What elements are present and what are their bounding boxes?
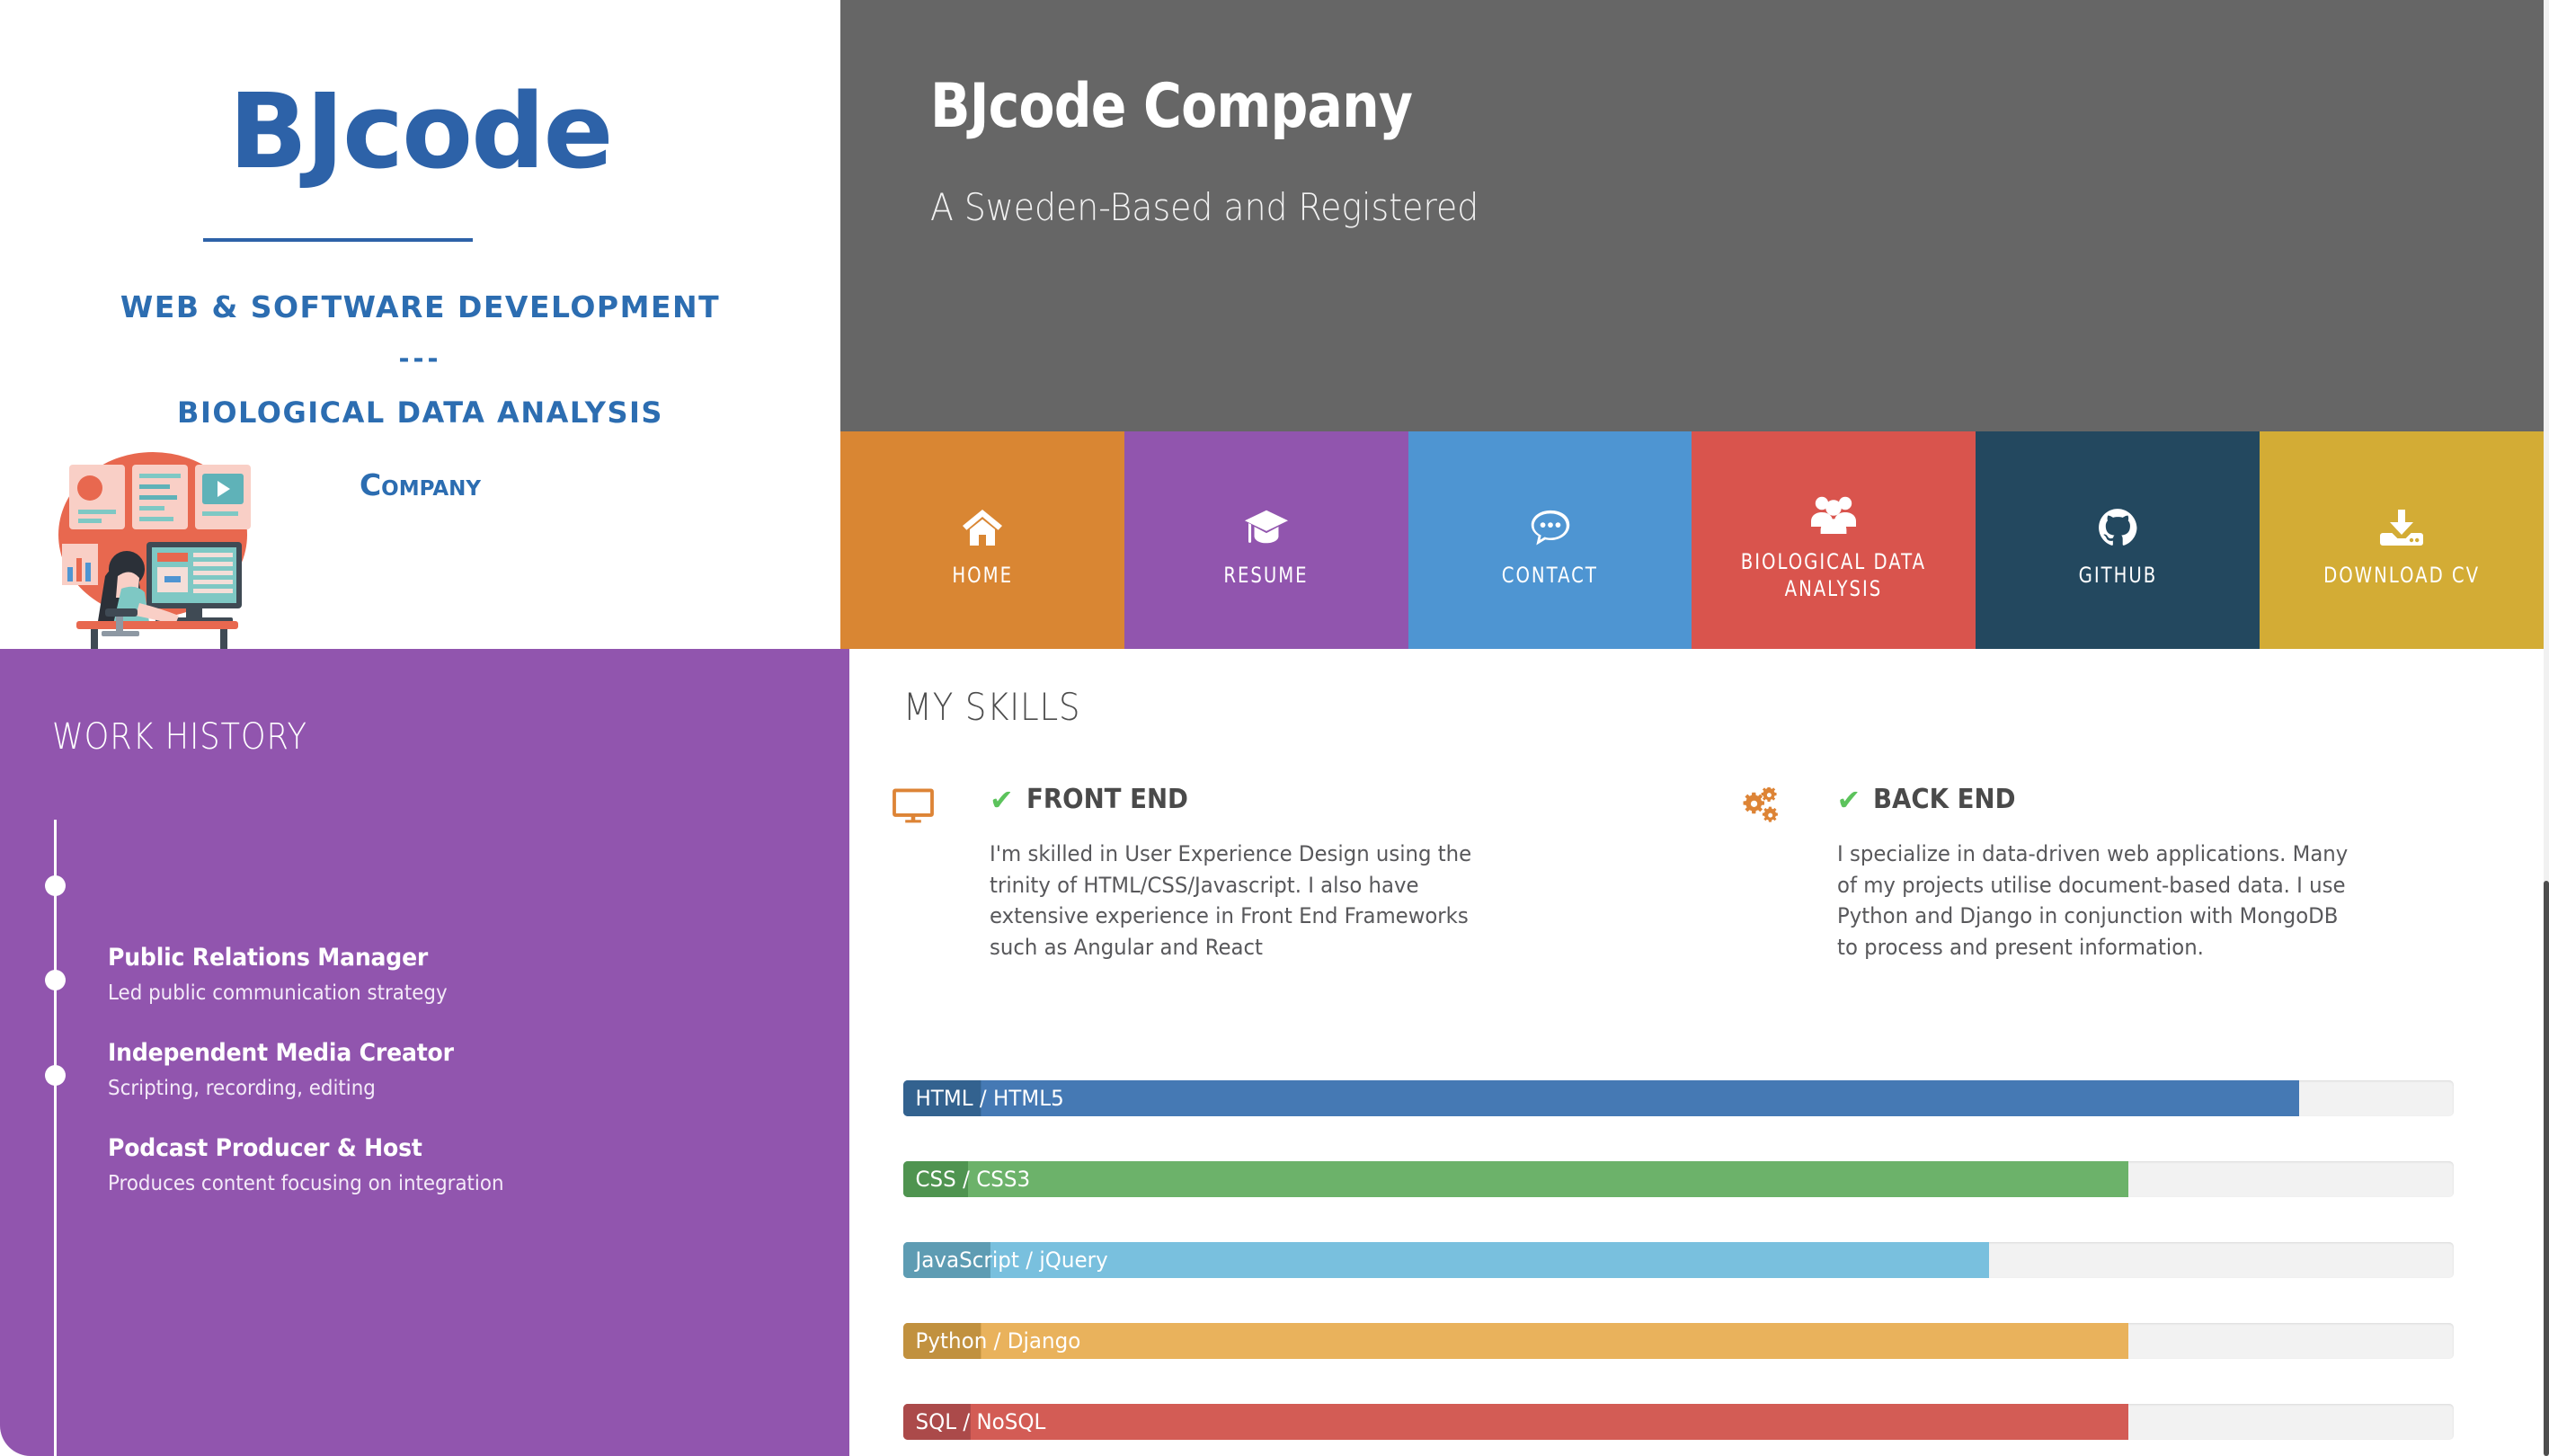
logo-wordmark: BJcode <box>0 81 840 184</box>
skill-bar-label: SQL / NoSQL <box>903 1404 971 1440</box>
skill-label-back-end: BACK END <box>1873 784 2016 815</box>
nav-item-download-cv[interactable]: DOWNLOAD CV <box>2260 431 2544 649</box>
work-history-role: Podcast Producer & Host <box>108 1134 422 1162</box>
home-icon <box>961 501 1004 547</box>
skill-bar-fill <box>903 1080 2299 1116</box>
logo-tagline-separator: --- <box>0 343 840 374</box>
nav-label-resume: RESUME <box>1224 562 1309 589</box>
skill-heading-back-end: ✔ BACK END <box>1837 784 2500 815</box>
skill-bar-label: Python / Django <box>903 1323 981 1359</box>
vertical-scrollbar-thumb[interactable] <box>2544 881 2549 1456</box>
vertical-scrollbar-track[interactable] <box>2544 0 2549 1456</box>
chat-bubble-icon <box>1530 501 1571 547</box>
graduation-cap-icon <box>1244 501 1289 547</box>
skill-bar-fill <box>903 1404 2128 1440</box>
logo-tagline-2: BIOLOGICAL DATA ANALYSIS <box>0 395 840 430</box>
nav-item-resume[interactable]: RESUME <box>1124 431 1408 649</box>
logo-tagline-1: WEB & SOFTWARE DEVELOPMENT <box>0 289 840 324</box>
skill-bar-label: JavaScript / jQuery <box>903 1242 990 1278</box>
page-root: BJcode WEB & SOFTWARE DEVELOPMENT --- BI… <box>0 0 2549 1456</box>
work-history-role: Public Relations Manager <box>108 944 428 972</box>
skill-heading-front-end: ✔ FRONT END <box>990 784 1652 815</box>
logo-panel: BJcode WEB & SOFTWARE DEVELOPMENT --- BI… <box>0 0 840 649</box>
skill-bar-row: SQL / NoSQL <box>903 1404 2454 1440</box>
gears-icon <box>1740 782 1837 963</box>
work-history-desc: Led public communication strategy <box>108 981 448 1005</box>
work-history-sidebar: WORK HISTORY Public Relations Manager Le… <box>0 649 849 1456</box>
skill-body-front-end: ✔ FRONT END I'm skilled in User Experien… <box>990 782 1652 963</box>
skill-label-front-end: FRONT END <box>1026 784 1188 815</box>
woman-at-computer-illustration <box>49 445 265 649</box>
nav-label-download-cv: DOWNLOAD CV <box>2323 562 2480 589</box>
skill-body-back-end: ✔ BACK END I specialize in data-driven w… <box>1837 782 2500 963</box>
page-subtitle: A Sweden-Based and Registered <box>930 189 1479 226</box>
skill-bar-label: CSS / CSS3 <box>903 1161 968 1197</box>
skill-bar-fill <box>903 1161 2128 1197</box>
nav-label-github: GITHUB <box>2078 562 2157 589</box>
timeline-dot-icon <box>45 875 66 896</box>
work-history-title: WORK HISTORY <box>52 716 307 758</box>
nav-label-biological-data-analysis: BIOLOGICAL DATA ANALYSIS <box>1718 548 1950 602</box>
skill-bar-label: HTML / HTML5 <box>903 1080 981 1116</box>
check-icon: ✔ <box>990 786 1014 814</box>
nav-item-contact[interactable]: CONTACT <box>1408 431 1692 649</box>
main-content: MY SKILLS ✔ FRONT END I'm skilled in Use… <box>849 649 2544 1456</box>
work-history-desc: Produces content focusing on integration <box>108 1172 504 1195</box>
work-history-desc: Scripting, recording, editing <box>108 1077 376 1100</box>
my-skills-title: MY SKILLS <box>903 685 1080 729</box>
skill-text-back-end: I specialize in data-driven web applicat… <box>1837 839 2349 963</box>
nav-item-biological-data-analysis[interactable]: BIOLOGICAL DATA ANALYSIS <box>1692 431 1976 649</box>
download-icon <box>2380 501 2423 547</box>
skill-bar-row: JavaScript / jQuery <box>903 1242 2454 1278</box>
nav-label-biological-data-analysis-contact: CONTACT <box>1502 562 1598 589</box>
skill-block-back-end: ✔ BACK END I specialize in data-driven w… <box>1697 782 2545 963</box>
nav-item-github[interactable]: GITHUB <box>1976 431 2260 649</box>
check-icon: ✔ <box>1837 786 1861 814</box>
nav-item-home[interactable]: HOME <box>840 431 1124 649</box>
group-users-icon <box>1810 487 1857 534</box>
skill-bar-row: CSS / CSS3 <box>903 1161 2454 1197</box>
skill-bar-chart: HTML / HTML5CSS / CSS3JavaScript / jQuer… <box>903 1080 2454 1456</box>
logo-underline-rule <box>203 238 473 242</box>
skill-block-front-end: ✔ FRONT END I'm skilled in User Experien… <box>849 782 1697 963</box>
work-history-role: Independent Media Creator <box>108 1039 454 1067</box>
nav-label-home: HOME <box>952 562 1013 589</box>
skill-bar-fill <box>903 1323 2128 1359</box>
skill-blocks: ✔ FRONT END I'm skilled in User Experien… <box>849 782 2544 963</box>
page-title: BJcode Company <box>930 76 1412 138</box>
skill-bar-row: HTML / HTML5 <box>903 1080 2454 1116</box>
main-navigation: HOME RESUME CONTACT BIOLOGICAL DATA ANAL… <box>840 431 2544 649</box>
timeline-dot-icon <box>45 1065 66 1086</box>
timeline-axis <box>54 820 57 1456</box>
page-header: BJcode Company A Sweden-Based and Regist… <box>840 0 2544 431</box>
monitor-icon <box>893 782 990 963</box>
github-icon <box>2098 501 2137 547</box>
skill-bar-row: Python / Django <box>903 1323 2454 1359</box>
timeline-dot-icon <box>45 970 66 990</box>
skill-text-front-end: I'm skilled in User Experience Design us… <box>990 839 1502 963</box>
